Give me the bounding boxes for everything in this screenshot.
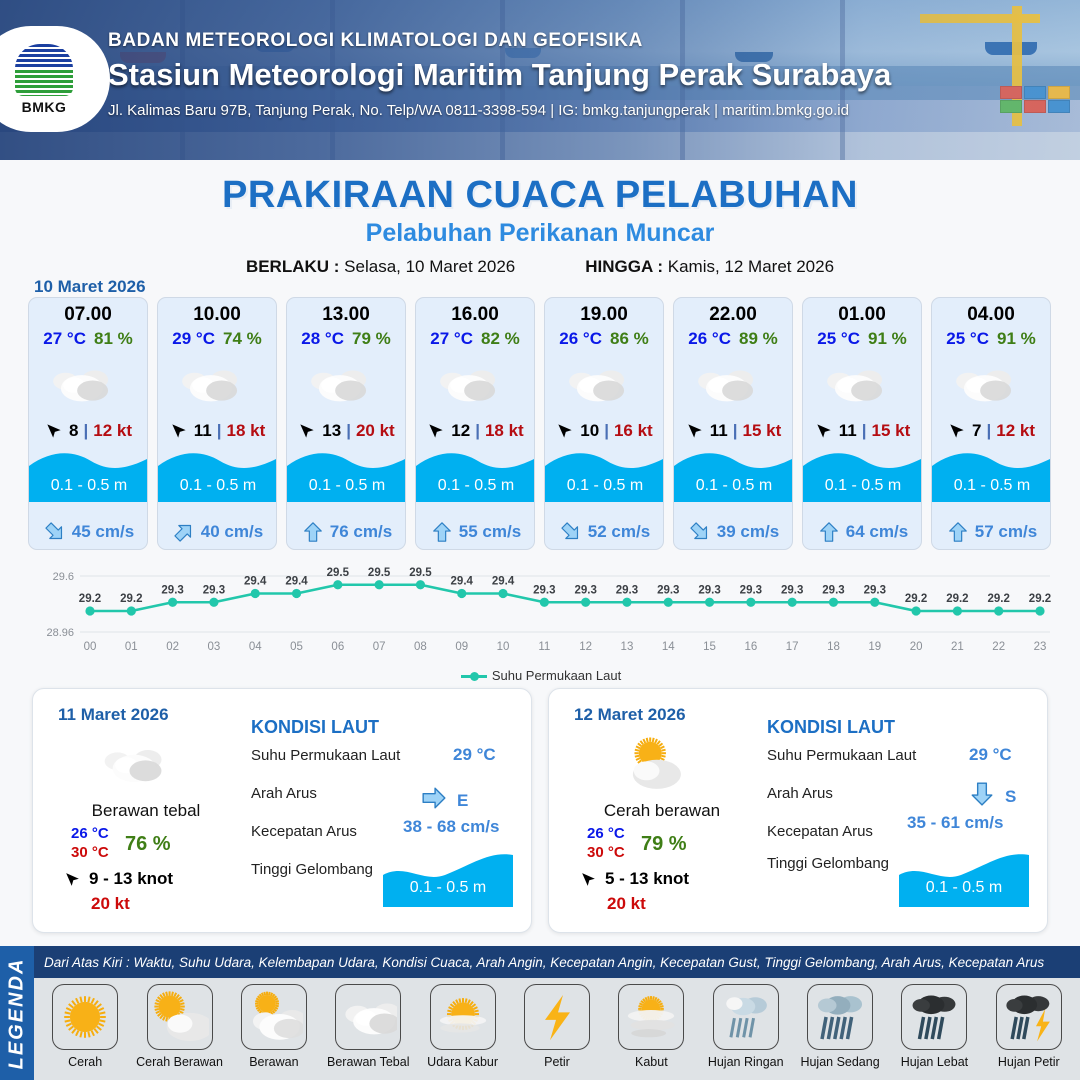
svg-text:13: 13 [621,641,634,653]
daily-temp-min: 26 °C [587,825,625,842]
berawan-tebal-icon [335,984,401,1050]
hourly-forecast-strip: 07.00 27 °C 81 % 8 | 12 kt 0.1 - 0 [28,297,1054,550]
svg-text:29.5: 29.5 [368,567,391,579]
hujan-lebat-icon [901,984,967,1050]
hourly-current: 76 cm/s [287,521,406,543]
svg-text:19: 19 [868,641,881,653]
wind-direction-icon [63,870,82,889]
bmkg-logo: BMKG [0,26,110,132]
header-text-block: BADAN METEOROLOGI KLIMATOLOGI DAN GEOFIS… [108,30,891,119]
wind-direction-icon [814,421,834,441]
legend-item-label: Hujan Lebat [901,1055,968,1069]
hourly-card: 04.00 25 °C 91 % 7 | 12 kt 0.1 - 0 [931,297,1051,550]
berawan-tebal-icon [932,353,1050,415]
legend-item-label: Berawan Tebal [327,1055,409,1069]
hourly-time: 19.00 [545,304,663,326]
station-address: Jl. Kalimas Baru 97B, Tanjung Perak, No.… [108,102,891,119]
svg-text:29.4: 29.4 [492,576,515,588]
cerah-berawan-icon [611,733,711,795]
legend-item: Kabut [604,984,698,1069]
hourly-current: 52 cm/s [545,521,664,543]
hourly-wave-height: 0.1 - 0.5 m [158,477,277,495]
svg-text:29.3: 29.3 [822,584,844,596]
legend-note-bar: Dari Atas Kiri : Waktu, Suhu Udara, Kele… [34,946,1080,978]
legend-item-label: Kabut [635,1055,668,1069]
hourly-wave-height: 0.1 - 0.5 m [545,477,664,495]
hourly-date: 10 Maret 2026 [34,277,146,297]
value-current-speed: 35 - 61 cm/s [907,813,1003,833]
sst-chart: 29.628.9629.229.229.329.329.429.429.529.… [28,560,1054,685]
svg-text:06: 06 [331,641,344,653]
legend-item: Hujan Lebat [887,984,981,1069]
legend-item-label: Petir [544,1055,570,1069]
svg-text:29.2: 29.2 [79,593,101,605]
legend-side-label: LEGENDA [0,946,34,1080]
legend-item-label: Udara Kabur [427,1055,498,1069]
svg-text:08: 08 [414,641,427,653]
label-current-speed: Kecepatan Arus [251,823,357,840]
hourly-time: 10.00 [158,304,276,326]
valid-from-value: Selasa, 10 Maret 2026 [344,257,515,276]
daily-temp-max: 30 °C [71,844,109,861]
page-title-block: PRAKIRAAN CUACA PELABUHAN Pelabuhan Peri… [0,160,1080,277]
wind-gust-separator: | [862,421,867,441]
value-sst: 29 °C [453,745,496,765]
wind-direction-icon [169,421,189,441]
berawan-icon [241,984,307,1050]
wind-gust-separator: | [217,421,222,441]
value-current-direction: E [421,785,468,816]
wind-direction-icon [579,870,598,889]
wind-gust-separator: | [986,421,991,441]
hourly-wind: 12 | 18 kt [416,421,534,441]
berawan-tebal-icon [674,353,792,415]
daily-wind: 9 - 13 knot [63,869,173,889]
legend-item: Berawan Tebal [321,984,415,1069]
hourly-humidity: 74 % [223,329,262,349]
hourly-time: 22.00 [674,304,792,326]
svg-text:21: 21 [951,641,964,653]
svg-text:29.2: 29.2 [946,593,968,605]
legend-item: Petir [510,984,604,1069]
chart-legend-label: Suhu Permukaan Laut [492,668,621,683]
kabut-icon [618,984,684,1050]
hourly-temperature: 28 °C [301,329,344,349]
svg-text:01: 01 [125,641,138,653]
berawan-tebal-icon [545,353,663,415]
hourly-humidity: 89 % [739,329,778,349]
current-direction-icon [302,521,324,543]
svg-text:22: 22 [992,641,1005,653]
hourly-card: 19.00 26 °C 86 % 10 | 16 kt 0.1 - [544,297,664,550]
hourly-current-speed: 76 cm/s [330,522,392,542]
daily-date: 12 Maret 2026 [574,705,686,725]
svg-text:28.96: 28.96 [46,627,74,639]
svg-text:17: 17 [786,641,799,653]
legend-item-label: Hujan Petir [998,1055,1060,1069]
svg-text:29.4: 29.4 [451,576,474,588]
svg-text:29.3: 29.3 [574,584,596,596]
current-direction-icon [173,521,195,543]
berawan-tebal-icon [95,733,195,795]
hujan-petir-icon [996,984,1062,1050]
svg-text:29.4: 29.4 [244,576,267,588]
hourly-humidity: 81 % [94,329,133,349]
hourly-card: 22.00 26 °C 89 % 11 | 15 kt 0.1 - [673,297,793,550]
legend-item: Cerah [38,984,132,1069]
label-wave-height: Tinggi Gelombang [251,861,373,878]
wind-gust-separator: | [83,421,88,441]
svg-text:05: 05 [290,641,303,653]
hourly-wind-speed: 8 [69,421,78,441]
hourly-gust: 15 kt [743,421,782,441]
daily-humidity: 76 % [125,833,171,856]
daily-wind-speed: 5 - 13 knot [605,869,689,889]
hourly-gust: 18 kt [485,421,524,441]
hourly-temperature: 29 °C [172,329,215,349]
petir-icon [524,984,590,1050]
hourly-wave-height: 0.1 - 0.5 m [803,477,922,495]
hourly-wind: 11 | 18 kt [158,421,276,441]
hourly-wave-height: 0.1 - 0.5 m [29,477,148,495]
hourly-humidity: 82 % [481,329,520,349]
validity-row: BERLAKU : Selasa, 10 Maret 2026 HINGGA :… [0,257,1080,277]
hourly-gust: 18 kt [227,421,266,441]
hourly-time: 04.00 [932,304,1050,326]
hourly-gust: 12 kt [996,421,1035,441]
page-subtitle: Pelabuhan Perikanan Muncar [0,219,1080,248]
hourly-temperature: 26 °C [688,329,731,349]
daily-wave-height: 0.1 - 0.5 m [899,879,1029,897]
hourly-wind-speed: 10 [580,421,599,441]
legend-item-label: Cerah Berawan [136,1055,223,1069]
berawan-tebal-icon [287,353,405,415]
hourly-wind: 7 | 12 kt [932,421,1050,441]
legend-items: Cerah Cerah Berawan Berawan Berawan Teba… [34,978,1080,1080]
cerah-icon [52,984,118,1050]
legend-item: Hujan Petir [982,984,1076,1069]
hourly-current-speed: 39 cm/s [717,522,779,542]
svg-text:29.3: 29.3 [698,584,720,596]
daily-wind-speed: 9 - 13 knot [89,869,173,889]
svg-text:16: 16 [744,641,757,653]
udara-kabur-icon [430,984,496,1050]
valid-from: BERLAKU : Selasa, 10 Maret 2026 [246,257,515,277]
hourly-current: 40 cm/s [158,521,277,543]
sst-chart-svg: 29.628.9629.229.229.329.329.429.429.529.… [28,560,1054,668]
hourly-humidity: 91 % [868,329,907,349]
svg-text:14: 14 [662,641,675,653]
hourly-wind-speed: 12 [451,421,470,441]
wind-direction-icon [947,421,967,441]
label-wave-height: Tinggi Gelombang [767,855,889,872]
daily-temperature-range: 26 °C 30 °C [587,825,625,861]
hourly-current: 57 cm/s [932,521,1051,543]
daily-temperature-range: 26 °C 30 °C [71,825,109,861]
hourly-current-speed: 40 cm/s [201,522,263,542]
daily-gust: 20 kt [607,894,646,914]
value-current-direction: S [969,781,1016,812]
wind-direction-icon [297,421,317,441]
hourly-current: 39 cm/s [674,521,793,543]
svg-text:09: 09 [455,641,468,653]
daily-temp-min: 26 °C [71,825,109,842]
label-current-direction: Arah Arus [767,785,833,802]
svg-text:04: 04 [249,641,262,653]
svg-text:00: 00 [84,641,97,653]
hourly-current-speed: 45 cm/s [72,522,134,542]
valid-until-label: HINGGA : [585,257,663,276]
chart-legend: Suhu Permukaan Laut [28,668,1054,683]
daily-forecast-card: 11 Maret 2026 Berawan tebal 26 °C 30 °C … [32,688,532,933]
wind-direction-icon [426,421,446,441]
wind-gust-separator: | [475,421,480,441]
hourly-temperature: 25 °C [817,329,860,349]
hourly-humidity: 86 % [610,329,649,349]
wind-gust-separator: | [604,421,609,441]
hourly-gust: 16 kt [614,421,653,441]
svg-text:29.3: 29.3 [657,584,679,596]
legend-item: Cerah Berawan [132,984,226,1069]
hourly-current-speed: 52 cm/s [588,522,650,542]
hourly-current-speed: 55 cm/s [459,522,521,542]
hourly-wave-height: 0.1 - 0.5 m [416,477,535,495]
hourly-current-speed: 57 cm/s [975,522,1037,542]
svg-text:29.2: 29.2 [120,593,142,605]
svg-text:02: 02 [166,641,179,653]
value-current-speed: 38 - 68 cm/s [403,817,499,837]
hourly-time: 16.00 [416,304,534,326]
hourly-wind: 8 | 12 kt [29,421,147,441]
label-current-direction: Arah Arus [251,785,317,802]
hourly-wind-speed: 11 [839,421,857,441]
page-header: BMKG BADAN METEOROLOGI KLIMATOLOGI DAN G… [0,0,1080,160]
hourly-gust: 20 kt [356,421,395,441]
hourly-card: 01.00 25 °C 91 % 11 | 15 kt 0.1 - [802,297,922,550]
daily-wave-graphic [899,849,1029,907]
legend-item: Udara Kabur [415,984,509,1069]
wind-direction-icon [555,421,575,441]
hourly-wind-speed: 13 [322,421,341,441]
current-direction-icon [431,521,453,543]
hourly-time: 01.00 [803,304,921,326]
legend-item: Berawan [227,984,321,1069]
daily-temp-max: 30 °C [587,844,625,861]
arrow-south-icon [969,781,995,812]
label-current-speed: Kecepatan Arus [767,823,873,840]
hourly-wind: 11 | 15 kt [803,421,921,441]
svg-text:29.6: 29.6 [53,571,74,583]
current-direction-icon [818,521,840,543]
berawan-tebal-icon [158,353,276,415]
label-sst: Suhu Permukaan Laut [767,747,916,764]
svg-text:29.2: 29.2 [905,593,927,605]
hourly-card: 16.00 27 °C 82 % 12 | 18 kt 0.1 - [415,297,535,550]
svg-text:12: 12 [579,641,592,653]
svg-text:29.2: 29.2 [1029,593,1051,605]
station-name: Stasiun Meteorologi Maritim Tanjung Pera… [108,57,891,93]
bmkg-logo-icon [15,44,73,96]
legend-side-text: LEGENDA [6,957,29,1069]
daily-humidity: 79 % [641,833,687,856]
hourly-gust: 15 kt [872,421,911,441]
legend-item: Hujan Ringan [699,984,793,1069]
svg-text:29.3: 29.3 [616,584,638,596]
hourly-temperature: 27 °C [43,329,86,349]
svg-text:15: 15 [703,641,716,653]
hourly-time: 07.00 [29,304,147,326]
valid-from-label: BERLAKU : [246,257,340,276]
label-sst: Suhu Permukaan Laut [251,747,400,764]
hourly-humidity: 91 % [997,329,1036,349]
hourly-gust: 12 kt [93,421,132,441]
current-direction-icon [689,521,711,543]
berawan-tebal-icon [416,353,534,415]
hourly-wave-height: 0.1 - 0.5 m [674,477,793,495]
arrow-east-icon [421,785,447,816]
berawan-tebal-icon [29,353,147,415]
sea-conditions-title: KONDISI LAUT [767,717,895,738]
daily-gust: 20 kt [91,894,130,914]
legend-item-label: Hujan Ringan [708,1055,784,1069]
cerah-berawan-icon [147,984,213,1050]
bmkg-logo-text: BMKG [22,99,67,115]
wind-direction-icon [685,421,705,441]
valid-until-value: Kamis, 12 Maret 2026 [668,257,834,276]
current-direction-text: S [1005,787,1016,807]
daily-wave-graphic [383,849,513,907]
wind-gust-separator: | [346,421,351,441]
hourly-wind: 10 | 16 kt [545,421,663,441]
wind-gust-separator: | [733,421,738,441]
svg-text:29.3: 29.3 [740,584,762,596]
value-sst: 29 °C [969,745,1012,765]
hourly-card: 07.00 27 °C 81 % 8 | 12 kt 0.1 - 0 [28,297,148,550]
svg-text:10: 10 [497,641,510,653]
svg-text:29.4: 29.4 [285,576,308,588]
hourly-current-speed: 64 cm/s [846,522,908,542]
current-direction-icon [560,521,582,543]
hourly-card: 13.00 28 °C 79 % 13 | 20 kt 0.1 - [286,297,406,550]
legend-section: LEGENDA Dari Atas Kiri : Waktu, Suhu Uda… [0,946,1080,1080]
hourly-time: 13.00 [287,304,405,326]
sea-conditions-title: KONDISI LAUT [251,717,379,738]
hourly-current: 45 cm/s [29,521,148,543]
hourly-wind: 13 | 20 kt [287,421,405,441]
hourly-current: 55 cm/s [416,521,535,543]
svg-text:29.3: 29.3 [864,584,886,596]
legend-item-label: Cerah [68,1055,102,1069]
hourly-wind-speed: 7 [972,421,981,441]
svg-text:03: 03 [208,641,221,653]
svg-text:29.5: 29.5 [409,567,432,579]
hourly-wind: 11 | 15 kt [674,421,792,441]
hourly-temperature: 25 °C [946,329,989,349]
daily-condition: Berawan tebal [51,801,241,821]
daily-forecast-card: 12 Maret 2026 Cerah berawan 26 °C 30 °C … [548,688,1048,933]
daily-wind: 5 - 13 knot [579,869,689,889]
hourly-temperature: 27 °C [430,329,473,349]
svg-text:29.5: 29.5 [327,567,350,579]
wind-direction-icon [44,421,64,441]
hujan-ringan-icon [713,984,779,1050]
hourly-temperature: 26 °C [559,329,602,349]
berawan-tebal-icon [803,353,921,415]
svg-text:07: 07 [373,641,386,653]
current-direction-icon [44,521,66,543]
daily-date: 11 Maret 2026 [58,705,169,725]
valid-until: HINGGA : Kamis, 12 Maret 2026 [585,257,834,277]
chart-legend-marker [461,675,487,678]
daily-condition: Cerah berawan [567,801,757,821]
hourly-current: 64 cm/s [803,521,922,543]
hourly-wave-height: 0.1 - 0.5 m [287,477,406,495]
current-direction-icon [947,521,969,543]
hourly-wind-speed: 11 [194,421,212,441]
legend-item-label: Hujan Sedang [800,1055,879,1069]
daily-wave-height: 0.1 - 0.5 m [383,879,513,897]
svg-text:18: 18 [827,641,840,653]
svg-text:29.3: 29.3 [203,584,225,596]
svg-text:29.3: 29.3 [781,584,803,596]
svg-text:11: 11 [538,641,550,653]
svg-text:23: 23 [1034,641,1047,653]
svg-text:20: 20 [910,641,923,653]
svg-text:29.3: 29.3 [161,584,183,596]
hourly-wave-height: 0.1 - 0.5 m [932,477,1051,495]
current-direction-icon [969,781,995,807]
svg-text:29.2: 29.2 [988,593,1010,605]
current-direction-icon [421,785,447,811]
legend-note: Dari Atas Kiri : Waktu, Suhu Udara, Kele… [34,955,1044,970]
hourly-wind-speed: 11 [710,421,728,441]
hujan-sedang-icon [807,984,873,1050]
page-title: PRAKIRAAN CUACA PELABUHAN [0,174,1080,217]
legend-item-label: Berawan [249,1055,298,1069]
hourly-card: 10.00 29 °C 74 % 11 | 18 kt 0.1 - [157,297,277,550]
hourly-humidity: 79 % [352,329,391,349]
legend-item: Hujan Sedang [793,984,887,1069]
current-direction-text: E [457,791,468,811]
svg-text:29.3: 29.3 [533,584,555,596]
agency-name: BADAN METEOROLOGI KLIMATOLOGI DAN GEOFIS… [108,30,891,52]
